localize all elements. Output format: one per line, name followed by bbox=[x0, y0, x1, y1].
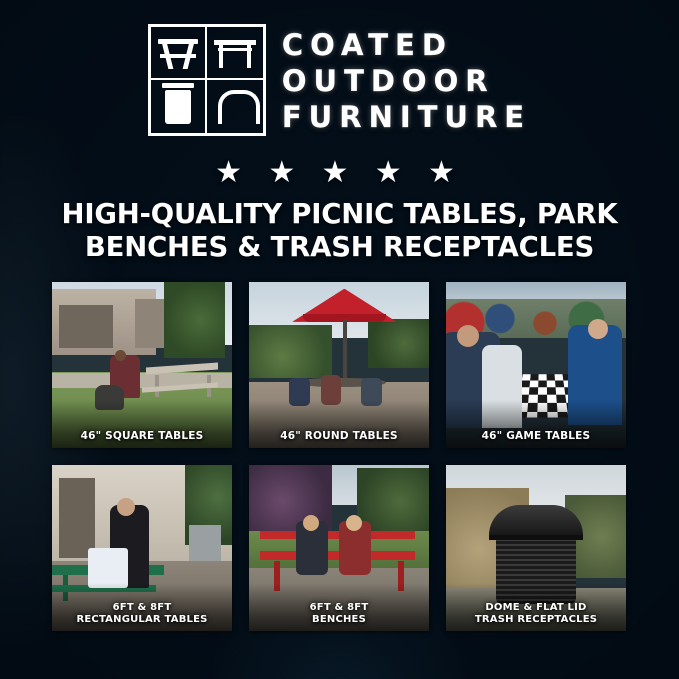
product-grid: 46" SQUARE TABLES 46 bbox=[52, 282, 627, 631]
product-caption-round-tables: 46" ROUND TABLES bbox=[249, 425, 429, 448]
product-card-trash-receptacles[interactable]: DOME & FLAT LID TRASH RECEPTACLES bbox=[446, 465, 626, 631]
caption-line-2: TRASH RECEPTACLES bbox=[450, 614, 622, 626]
star-rating: ★ ★ ★ ★ ★ bbox=[0, 158, 679, 188]
product-card-round-tables[interactable]: 46" ROUND TABLES bbox=[249, 282, 429, 448]
product-caption-rectangular-tables: 6FT & 8FT RECTANGULAR TABLES bbox=[52, 597, 232, 631]
product-photo-square-tables bbox=[52, 282, 232, 448]
logo-icon-grid bbox=[148, 24, 266, 136]
brand-word-1: COATED bbox=[282, 28, 531, 62]
caption-line-2: BENCHES bbox=[253, 614, 425, 626]
product-photo-round-tables bbox=[249, 282, 429, 448]
trash-receptacle-icon bbox=[151, 80, 207, 133]
brand-wordmark: COATED OUTDOOR FURNITURE bbox=[282, 24, 531, 134]
promo-banner: COATED OUTDOOR FURNITURE ★ ★ ★ ★ ★ HIGH-… bbox=[0, 0, 679, 679]
caption-line-1: 6FT & 8FT bbox=[253, 602, 425, 614]
dome-lid-icon bbox=[207, 80, 263, 133]
caption-line-2: RECTANGULAR TABLES bbox=[56, 614, 228, 626]
brand-word-3: FURNITURE bbox=[282, 100, 531, 134]
park-bench-icon bbox=[207, 27, 263, 80]
product-card-square-tables[interactable]: 46" SQUARE TABLES bbox=[52, 282, 232, 448]
product-card-benches[interactable]: 6FT & 8FT BENCHES bbox=[249, 465, 429, 631]
product-card-rectangular-tables[interactable]: 6FT & 8FT RECTANGULAR TABLES bbox=[52, 465, 232, 631]
headline: HIGH-QUALITY PICNIC TABLES, PARK BENCHES… bbox=[28, 198, 651, 264]
product-caption-trash-receptacles: DOME & FLAT LID TRASH RECEPTACLES bbox=[446, 597, 626, 631]
product-photo-game-tables bbox=[446, 282, 626, 448]
headline-line-2: BENCHES & TRASH RECEPTACLES bbox=[28, 231, 651, 264]
product-caption-benches: 6FT & 8FT BENCHES bbox=[249, 597, 429, 631]
caption-line-1: 6FT & 8FT bbox=[56, 602, 228, 614]
brand-word-2: OUTDOOR bbox=[282, 64, 531, 98]
picnic-table-icon bbox=[151, 27, 207, 80]
headline-line-1: HIGH-QUALITY PICNIC TABLES, PARK bbox=[28, 198, 651, 231]
product-caption-game-tables: 46" GAME TABLES bbox=[446, 425, 626, 448]
caption-line-1: DOME & FLAT LID bbox=[450, 602, 622, 614]
brand-logo: COATED OUTDOOR FURNITURE bbox=[0, 24, 679, 136]
product-caption-square-tables: 46" SQUARE TABLES bbox=[52, 425, 232, 448]
product-card-game-tables[interactable]: 46" GAME TABLES bbox=[446, 282, 626, 448]
